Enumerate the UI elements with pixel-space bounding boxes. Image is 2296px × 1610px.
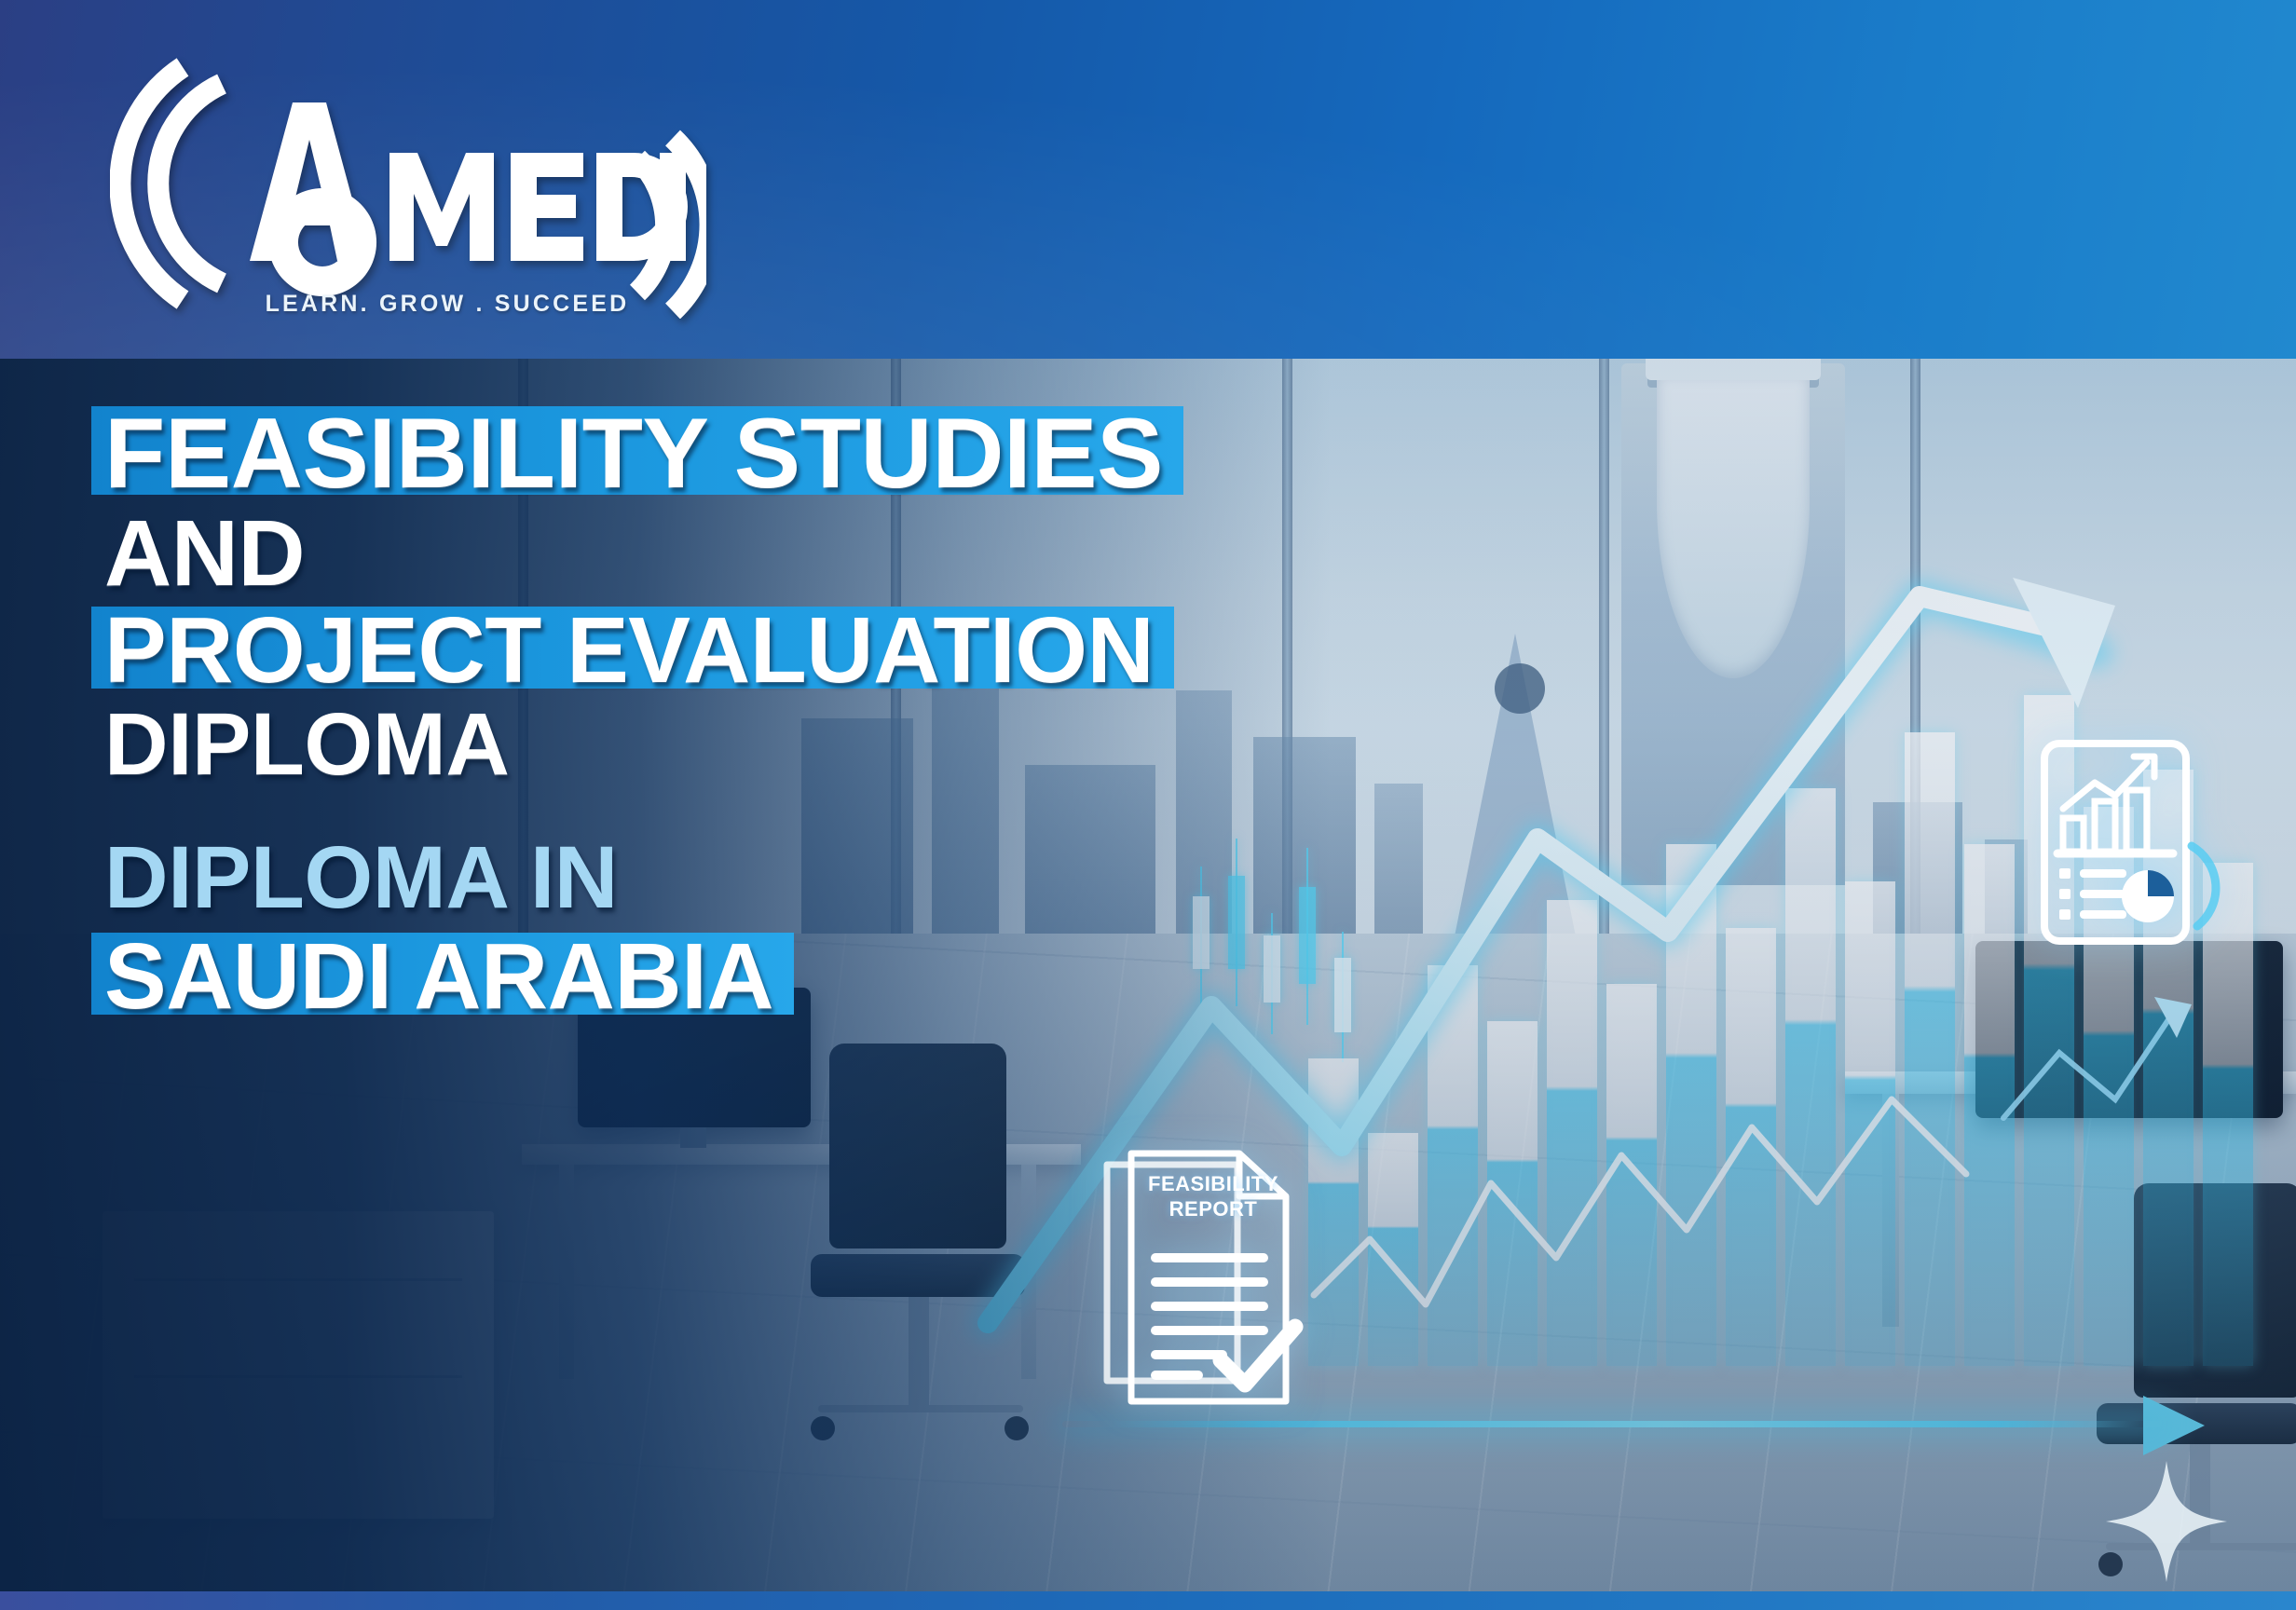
headline-line-1: FEASIBILITY STUDIES <box>104 402 1163 504</box>
headline-line-3-highlight: PROJECT EVALUATION <box>104 603 1154 698</box>
headline-line-1-highlight: FEASIBILITY STUDIES <box>104 402 1163 504</box>
headline-line-5-row: DIPLOMA IN <box>104 833 1558 923</box>
headline-line-4: DIPLOMA <box>104 700 510 790</box>
footer-bar <box>0 1591 2296 1610</box>
headline-line-2: AND <box>104 506 305 601</box>
headline-line-1-row: FEASIBILITY STUDIES <box>104 402 1558 504</box>
headline-line-4-row: DIPLOMA <box>104 700 1558 790</box>
headline-block: FEASIBILITY STUDIES AND PROJECT EVALUATI… <box>104 402 1558 1024</box>
aomedic-logo[interactable] <box>110 48 706 319</box>
headline-line-2-row: AND <box>104 506 1558 601</box>
brand-tagline: LEARN. GROW . SUCCEED <box>252 291 643 318</box>
sparkle-icon <box>2106 1461 2227 1582</box>
headline-line-3: PROJECT EVALUATION <box>104 603 1154 698</box>
document-title-line-2: REPORT <box>1169 1197 1258 1221</box>
analytics-dashboard-icon[interactable] <box>2037 736 2242 948</box>
header-bar: LEARN. GROW . SUCCEED <box>0 0 2296 359</box>
headline-line-6-highlight: SAUDI ARABIA <box>104 929 773 1024</box>
headline-line-3-row: PROJECT EVALUATION <box>104 603 1558 698</box>
document-title-line-1: FEASIBILITY <box>1148 1172 1278 1195</box>
headline-line-6-row: SAUDI ARABIA <box>104 929 1558 1024</box>
promotional-banner: LEARN. GROW . SUCCEED FEASIBILITY STUDIE… <box>0 0 2296 1610</box>
headline-line-6: SAUDI ARABIA <box>104 929 773 1024</box>
headline-line-5: DIPLOMA IN <box>104 833 618 923</box>
document-icon-title: FEASIBILITY REPORT <box>1135 1172 1291 1222</box>
